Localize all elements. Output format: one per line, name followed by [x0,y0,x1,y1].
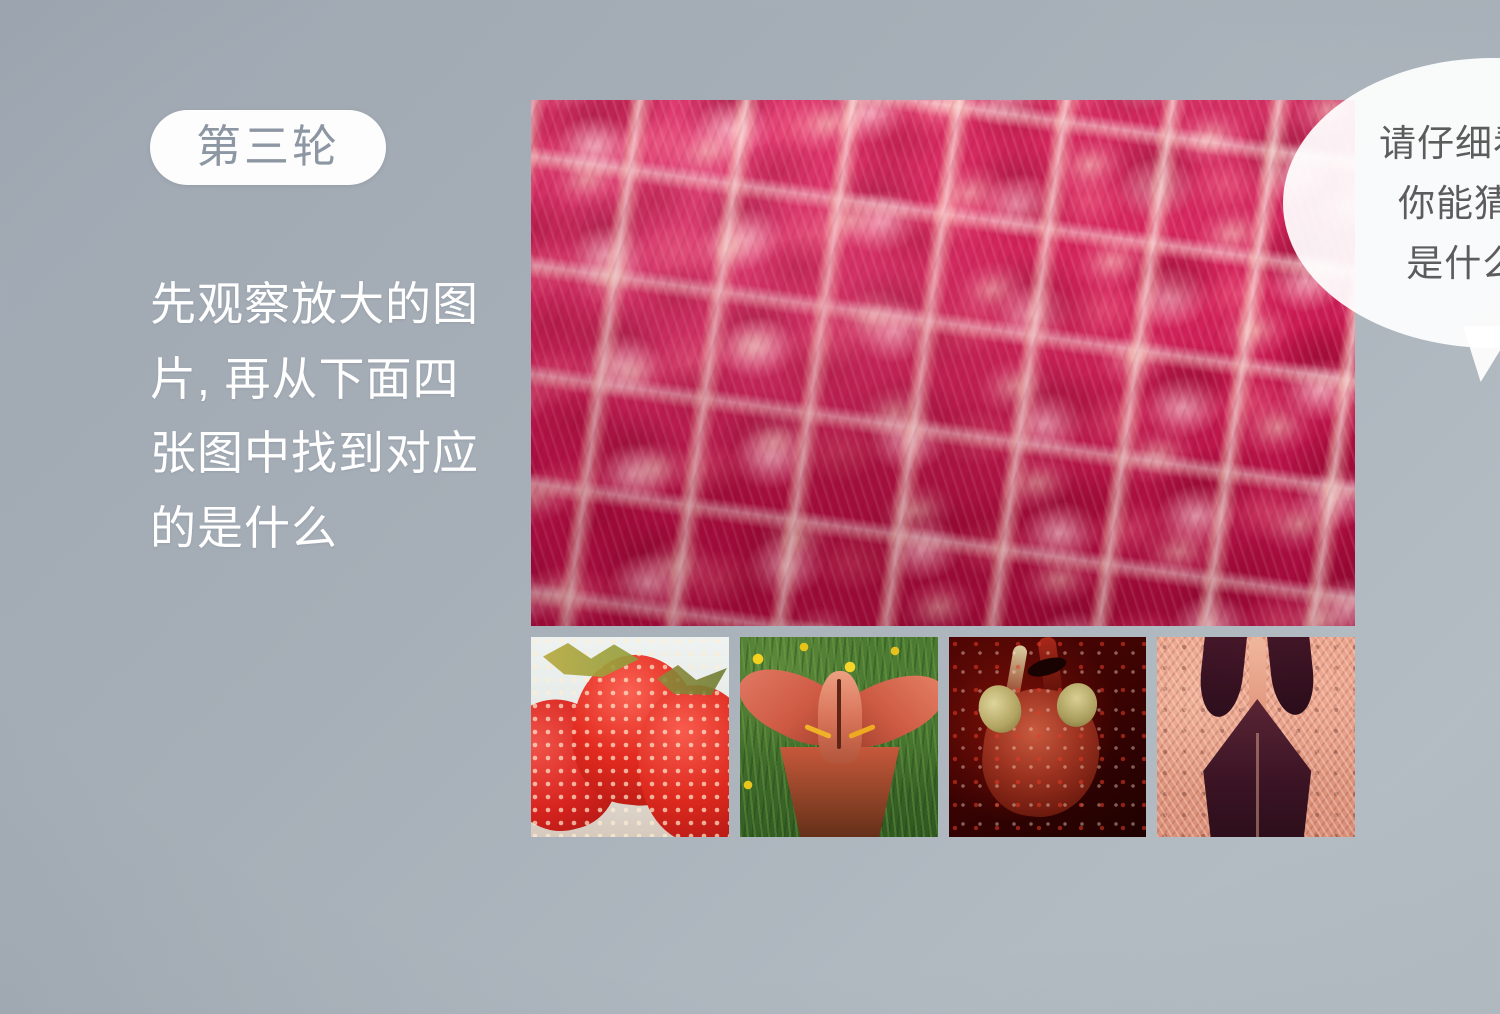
right-panel: 请仔细看图， 你能猜出它 是什么吗? [531,100,1355,626]
thumbnail-option-throat-tissue[interactable] [1157,637,1355,837]
tissue-midline [1256,733,1259,837]
speech-bubble-line-3: 是什么吗? [1283,234,1500,294]
thumbnail-option-heart[interactable] [949,637,1147,837]
speech-bubble-tail-icon [1463,326,1500,382]
round-badge-label: 第三轮 [196,124,340,169]
hero-shading-layer [531,100,1355,626]
instructions-text: 先观察放大的图片, 再从下面四张图中找到对应的是什么 [150,267,480,565]
left-column: 第三轮 先观察放大的图片, 再从下面四张图中找到对应的是什么 [150,110,490,565]
thumbnail-option-strawberry[interactable] [531,637,729,837]
speech-bubble-line-1: 请仔细看图， [1283,114,1500,174]
round-badge: 第三轮 [150,110,386,185]
hero-magnified-image[interactable] [531,100,1355,626]
speech-bubble-text: 请仔细看图， 你能猜出它 是什么吗? [1283,114,1500,294]
lily-pistil-slit [837,679,841,749]
thumbnail-strip [531,637,1355,837]
speech-bubble: 请仔细看图， 你能猜出它 是什么吗? [1283,58,1500,348]
speech-bubble-line-2: 你能猜出它 [1283,174,1500,234]
thumbnail-option-lily-flower[interactable] [740,637,938,837]
